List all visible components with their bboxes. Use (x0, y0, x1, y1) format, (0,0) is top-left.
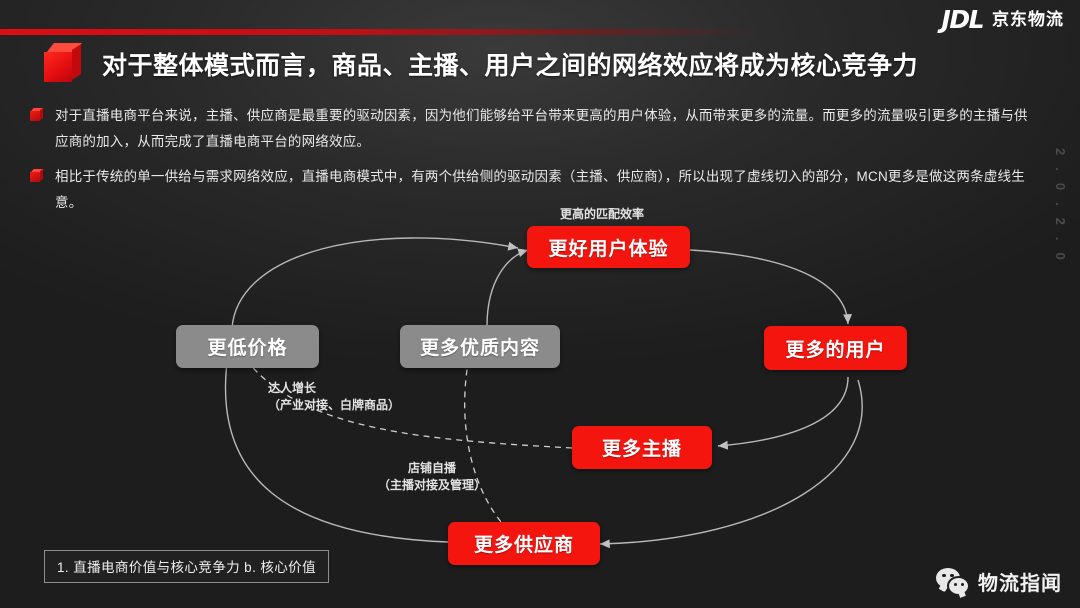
title-row: 对于整体模式而言，商品、主播、用户之间的网络效应将成为核心竞争力 (44, 43, 918, 85)
wechat-watermark: 物流指闻 (936, 567, 1062, 596)
node-better-experience[interactable]: 更好用户体验 (527, 226, 690, 268)
edge-label-match-efficiency: 更高的匹配效率 (560, 206, 644, 223)
edge-label-line: （产业对接、白牌商品） (268, 397, 400, 414)
bullet-text: 对于直播电商平台来说，主播、供应商是最重要的驱动因素，因为他们能够给平台带来更高… (55, 103, 1040, 155)
network-effect-diagram: 更好用户体验 更低价格 更多优质内容 更多的用户 更多主播 更多供应商 更高的匹… (0, 200, 1080, 590)
node-more-users[interactable]: 更多的用户 (764, 326, 907, 370)
edge-label-line: 达人增长 (268, 380, 400, 397)
wechat-account-name: 物流指闻 (978, 567, 1062, 596)
edge-label-line: （主播对接及管理） (378, 477, 486, 494)
node-more-quality-content[interactable]: 更多优质内容 (400, 325, 560, 368)
edge-label-talent-growth: 达人增长 （产业对接、白牌商品） (268, 380, 400, 414)
top-red-stripe (0, 29, 760, 35)
node-label: 更多主播 (602, 434, 682, 461)
node-label: 更多供应商 (474, 530, 574, 557)
cube-bullet-icon (30, 108, 44, 123)
node-label: 更好用户体验 (548, 234, 668, 261)
jdl-logo-text: 京东物流 (992, 11, 1064, 28)
edge-label-line: 店铺自播 (378, 460, 486, 477)
jdl-logo-mark: JDL (942, 7, 983, 32)
node-label: 更多的用户 (785, 335, 885, 362)
list-item: 对于直播电商平台来说，主播、供应商是最重要的驱动因素，因为他们能够给平台带来更高… (30, 103, 1040, 155)
node-lower-price[interactable]: 更低价格 (176, 325, 319, 368)
cube-bullet-icon (30, 169, 44, 184)
node-label: 更多优质内容 (420, 333, 540, 360)
page-title: 对于整体模式而言，商品、主播、用户之间的网络效应将成为核心竞争力 (102, 46, 918, 82)
edge-label-store-selfbroadcast: 店铺自播 （主播对接及管理） (378, 460, 486, 494)
wechat-icon (936, 568, 970, 596)
footer-caption: 1. 直播电商价值与核心竞争力 b. 核心价值 (44, 550, 329, 583)
red-cube-icon (44, 43, 84, 85)
node-more-suppliers[interactable]: 更多供应商 (448, 522, 600, 565)
node-label: 更低价格 (207, 333, 287, 360)
node-more-streamers[interactable]: 更多主播 (572, 426, 712, 469)
slide-root: JDL 京东物流 对于整体模式而言，商品、主播、用户之间的网络效应将成为核心竞争… (0, 0, 1080, 608)
jdl-logo: JDL 京东物流 (942, 7, 1064, 32)
